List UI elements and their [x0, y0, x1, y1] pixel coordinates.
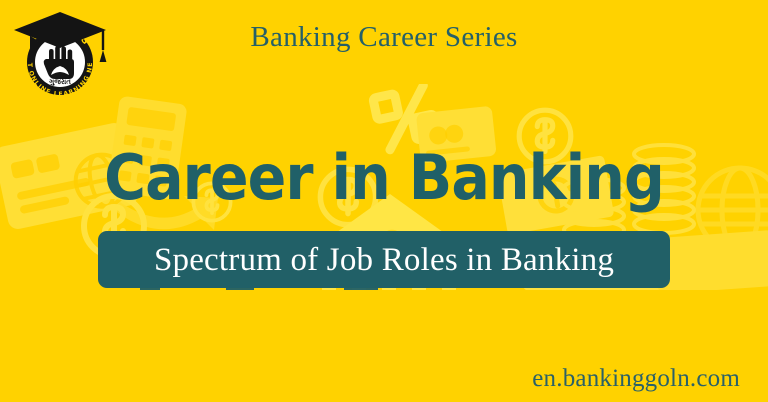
watermark-card-right — [654, 230, 768, 290]
page-title: Career in Banking — [31, 142, 738, 214]
series-title: Banking Career Series — [0, 18, 768, 56]
subtitle-banner: Spectrum of Job Roles in Banking — [98, 231, 670, 288]
banking-career-banner: BANKING GUJARAT ONLINE LEARNING NETWORK … — [0, 0, 768, 402]
subtitle-text: Spectrum of Job Roles in Banking — [154, 240, 614, 280]
site-url[interactable]: en.bankinggoln.com — [532, 364, 740, 394]
badge-script-text: ગુજરાત — [49, 78, 71, 86]
